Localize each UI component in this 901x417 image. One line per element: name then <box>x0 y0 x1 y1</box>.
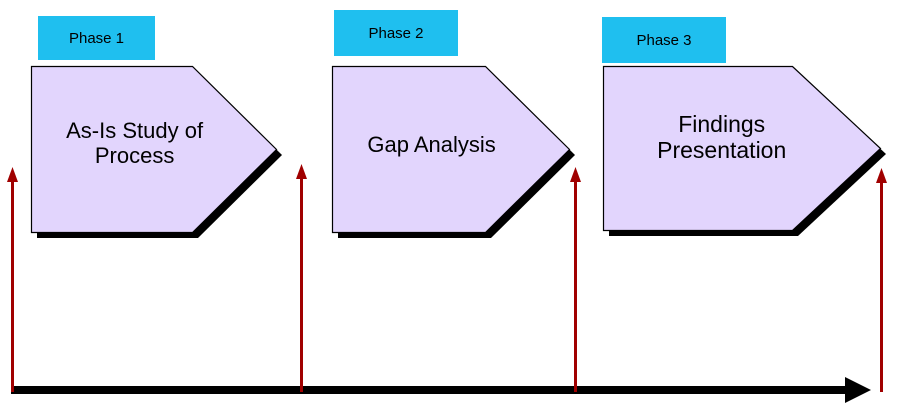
phase-chevron-1[interactable]: As-Is Study of Process <box>31 66 284 240</box>
tick-arrow-2-head <box>296 164 307 179</box>
phase-badge-3[interactable]: Phase 3 <box>602 17 726 63</box>
phase-badge-2[interactable]: Phase 2 <box>334 10 458 56</box>
tick-arrow-1-head <box>7 167 18 182</box>
phase-badge-1-label: Phase 1 <box>69 31 124 46</box>
timeline-arrow-shape <box>11 377 871 403</box>
diagram-canvas: As-Is Study of ProcessPhase 1Gap Analysi… <box>0 0 901 417</box>
phase-chevron-2-svg <box>332 66 577 240</box>
tick-arrow-1-svg <box>6 167 19 392</box>
phase-badge-1[interactable]: Phase 1 <box>38 16 155 60</box>
phase-chevron-1-body <box>32 67 277 233</box>
phase-chevron-2-body <box>333 67 570 233</box>
phase-chevron-3-body <box>604 67 881 231</box>
tick-arrow-2 <box>295 164 308 392</box>
phase-chevron-3[interactable]: Findings Presentation <box>603 66 888 238</box>
timeline-axis <box>11 377 875 403</box>
tick-arrow-2-shaft <box>300 175 303 392</box>
phase-chevron-3-svg <box>603 66 888 238</box>
tick-arrow-2-svg <box>295 164 308 392</box>
tick-arrow-1 <box>6 167 19 392</box>
timeline-arrow-svg <box>11 377 875 403</box>
phase-badge-2-label: Phase 2 <box>368 26 423 41</box>
phase-chevron-2[interactable]: Gap Analysis <box>332 66 577 240</box>
phase-chevron-1-svg <box>31 66 284 240</box>
phase-badge-3-label: Phase 3 <box>636 33 691 48</box>
tick-arrow-1-shaft <box>11 178 14 392</box>
